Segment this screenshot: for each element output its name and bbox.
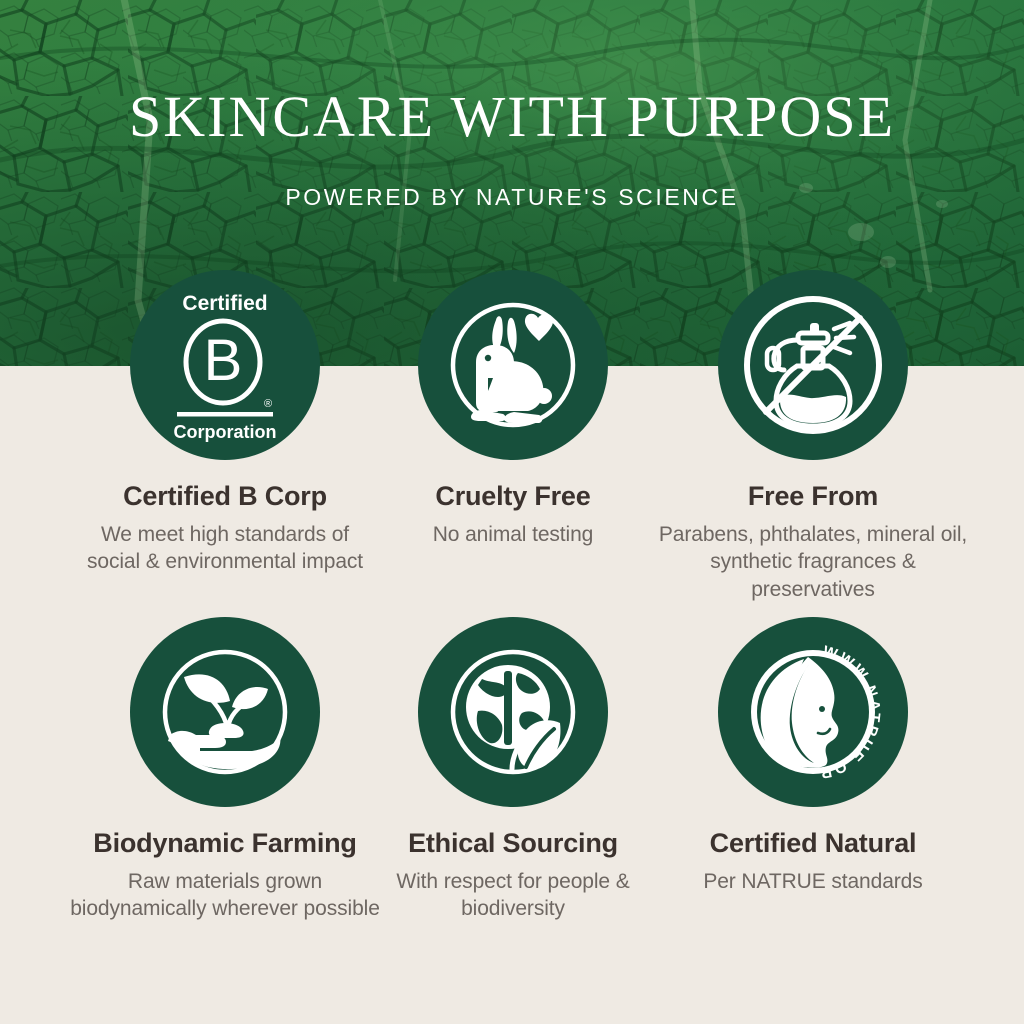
badge-description: We meet high standards of social & envir… xyxy=(79,521,371,576)
b-corp-registered-mark-text: ® xyxy=(264,398,272,410)
badge-certified-natural: WWW.NATRUE.ORG Certified Natural Per NAT… xyxy=(648,617,978,895)
badge-heading: Biodynamic Farming xyxy=(60,829,390,859)
b-corp-letter-b-text: B xyxy=(204,328,243,393)
badge-ethical-sourcing: Ethical Sourcing With respect for people… xyxy=(367,617,659,923)
badge-grid: Certified B ® Corporation Certified B Co… xyxy=(0,0,1024,1024)
b-corp-certified-text: Certified xyxy=(182,292,267,315)
natrue-seal-icon: WWW.NATRUE.ORG xyxy=(718,617,908,807)
badge-heading: Free From xyxy=(648,482,978,512)
badge-description: Parabens, phthalates, mineral oil, synth… xyxy=(648,521,978,604)
globe-with-leaf-icon xyxy=(418,617,608,807)
badge-cruelty-free: Cruelty Free No animal testing xyxy=(367,270,659,548)
badge-description: No animal testing xyxy=(367,521,659,549)
badge-heading: Cruelty Free xyxy=(367,482,659,512)
badge-description: With respect for people & biodiversity xyxy=(367,868,659,923)
badge-heading: Ethical Sourcing xyxy=(367,829,659,859)
no-spray-bottle-prohibition-icon xyxy=(718,270,908,460)
badge-certified-b-corp: Certified B ® Corporation Certified B Co… xyxy=(79,270,371,576)
badge-description: Raw materials grown biodynamically where… xyxy=(60,868,390,923)
rabbit-with-heart-icon xyxy=(418,270,608,460)
badge-heading: Certified Natural xyxy=(648,829,978,859)
b-corp-corporation-text: Corporation xyxy=(174,422,277,442)
badge-heading: Certified B Corp xyxy=(79,482,371,512)
badge-biodynamic-farming: Biodynamic Farming Raw materials grown b… xyxy=(60,617,390,923)
b-corp-certified-logo-icon: Certified B ® Corporation xyxy=(130,270,320,460)
badge-description: Per NATRUE standards xyxy=(648,868,978,896)
badge-free-from: Free From Parabens, phthalates, mineral … xyxy=(648,270,978,604)
hand-holding-sprout-icon xyxy=(130,617,320,807)
skincare-purpose-infographic: SKINCARE WITH PURPOSE POWERED BY NATURE'… xyxy=(0,0,1024,1024)
